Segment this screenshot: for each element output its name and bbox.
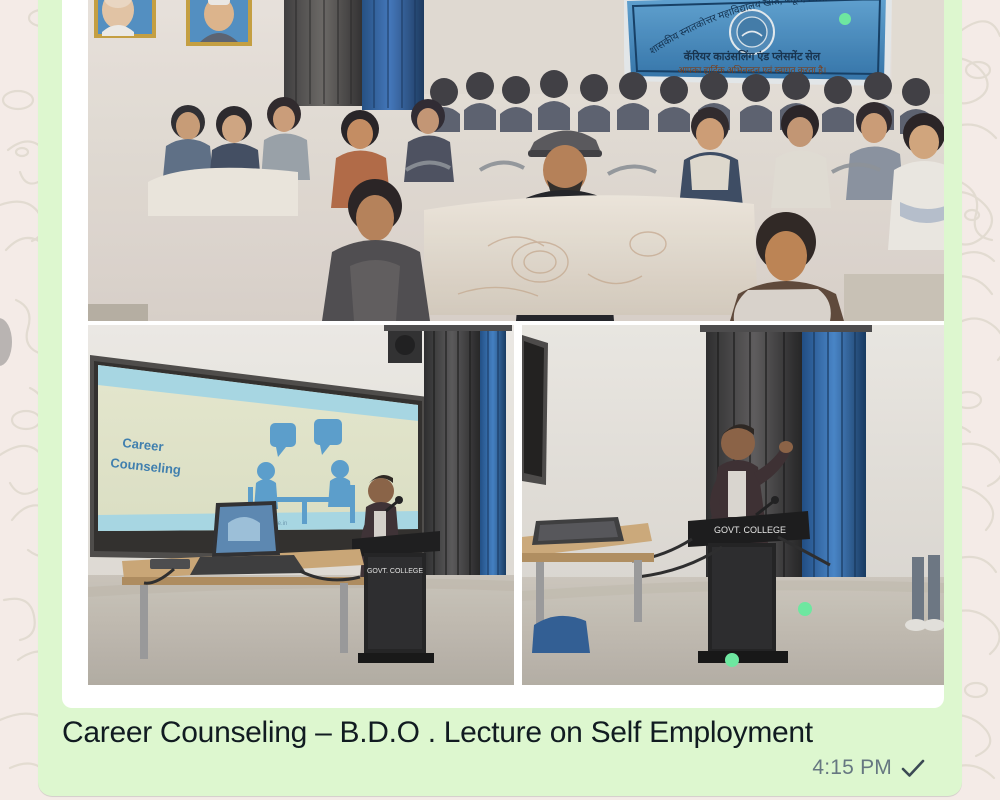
speaker-with-slide-photo: Career Counseling: [88, 325, 514, 685]
outgoing-message-bubble[interactable]: शासकीय स्नातकोत्तर महाविद्यालय खाते, बैत…: [38, 0, 962, 796]
album-photo-speaker-podium[interactable]: GOVT. COLLEGE: [522, 325, 944, 685]
marker-floor-right: [798, 602, 812, 616]
image-album-frame[interactable]: शासकीय स्नातकोत्तर महाविद्यालय खाते, बैत…: [62, 0, 944, 708]
audience-hall-photo: शासकीय स्नातकोत्तर महाविद्यालय खाते, बैत…: [88, 0, 944, 321]
message-caption-block: Career Counseling – B.D.O . Lecture on S…: [62, 716, 944, 750]
single-check-icon: [900, 757, 926, 779]
image-album-collage: शासकीय स्नातकोत्तर महाविद्यालय खाते, बैत…: [88, 0, 944, 685]
album-photo-projector-screen[interactable]: Career Counseling: [88, 325, 514, 685]
marker-banner: [839, 13, 851, 25]
message-meta: 4:15 PM: [812, 756, 926, 780]
album-photo-audience[interactable]: शासकीय स्नातकोत्तर महाविद्यालय खाते, बैत…: [88, 0, 944, 321]
speaker-closeup-photo: GOVT. COLLEGE: [522, 325, 944, 685]
message-timestamp: 4:15 PM: [812, 756, 892, 780]
message-caption: Career Counseling – B.D.O . Lecture on S…: [62, 716, 822, 750]
marker-floor-center: [725, 653, 739, 667]
